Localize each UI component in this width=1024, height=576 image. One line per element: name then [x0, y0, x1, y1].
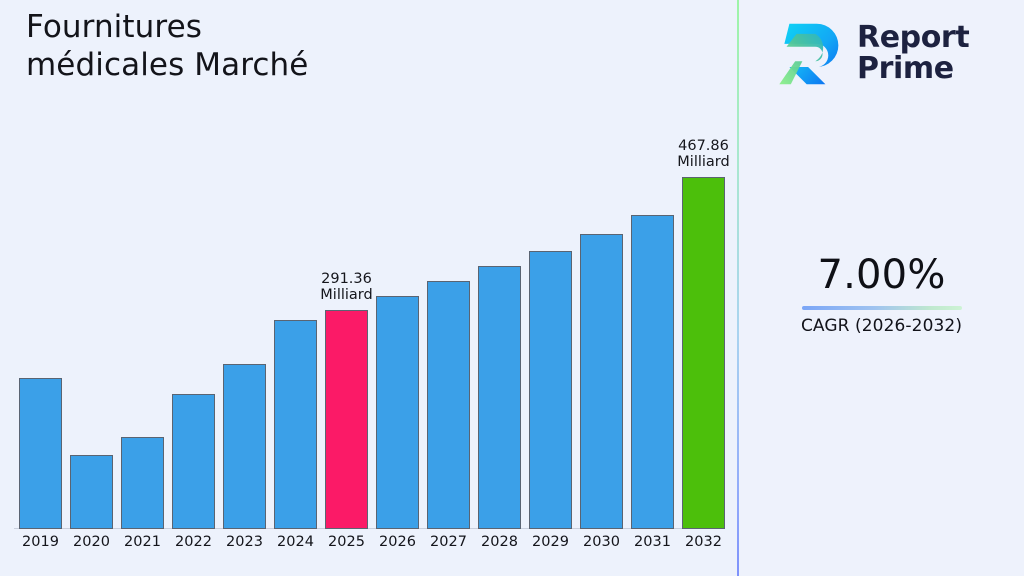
x-tick-2025: 2025: [325, 534, 368, 550]
x-tick-2019: 2019: [19, 534, 62, 550]
bar-rect-2019[interactable]: [19, 378, 62, 529]
bar-2027[interactable]: [427, 281, 470, 529]
bar-rect-2027[interactable]: [427, 281, 470, 529]
bar-rect-2024[interactable]: [274, 320, 317, 529]
bar-rect-2026[interactable]: [376, 296, 419, 529]
bar-rect-2029[interactable]: [529, 251, 572, 529]
bar-2030[interactable]: [580, 234, 623, 529]
x-tick-2026: 2026: [376, 534, 419, 550]
bar-2022[interactable]: [172, 394, 215, 529]
cagr-value: 7.00%: [739, 252, 1024, 298]
bar-rect-2023[interactable]: [223, 364, 266, 529]
bar-rect-2030[interactable]: [580, 234, 623, 529]
bar-value-label-2025: 291.36 Milliard: [320, 271, 372, 304]
bar-2021[interactable]: [121, 437, 164, 529]
x-tick-2023: 2023: [223, 534, 266, 550]
cagr-caption: CAGR (2026-2032): [739, 316, 1024, 336]
x-tick-2022: 2022: [172, 534, 215, 550]
x-tick-2021: 2021: [121, 534, 164, 550]
report-prime-r-mark: [775, 18, 847, 90]
bar-value-label-2032: 467.86 Milliard: [677, 138, 729, 171]
bar-rect-2025[interactable]: [325, 310, 368, 529]
x-tick-2032: 2032: [682, 534, 725, 550]
cagr-divider-rule: [802, 306, 962, 310]
bar-rect-2021[interactable]: [121, 437, 164, 529]
x-tick-2029: 2029: [529, 534, 572, 550]
x-tick-2031: 2031: [631, 534, 674, 550]
x-tick-2030: 2030: [580, 534, 623, 550]
x-tick-2020: 2020: [70, 534, 113, 550]
x-tick-2027: 2027: [427, 534, 470, 550]
bar-2028[interactable]: [478, 266, 521, 529]
bar-2032[interactable]: 467.86 Milliard: [682, 177, 725, 529]
bar-2026[interactable]: [376, 296, 419, 529]
bar-2025[interactable]: 291.36 Milliard: [325, 310, 368, 529]
bar-rect-2032[interactable]: [682, 177, 725, 529]
bar-2019[interactable]: [19, 378, 62, 529]
report-prime-logo: Report Prime: [775, 12, 1003, 96]
bar-rect-2031[interactable]: [631, 215, 674, 529]
bar-chart-plot: 201920202021202220232024291.36 Milliard2…: [0, 0, 737, 576]
chart-infographic: Fournitures médicales Marché 20192020202…: [0, 0, 1024, 576]
x-tick-2028: 2028: [478, 534, 521, 550]
brand-wordmark: Report Prime: [857, 23, 969, 84]
bar-2020[interactable]: [70, 455, 113, 529]
brand-panel: Report Prime 7.00% CAGR (2026-2032): [739, 0, 1024, 576]
bar-2024[interactable]: [274, 320, 317, 529]
chart-panel: Fournitures médicales Marché 20192020202…: [0, 0, 737, 576]
bar-rect-2020[interactable]: [70, 455, 113, 529]
cagr-block: 7.00% CAGR (2026-2032): [739, 252, 1024, 336]
bar-2031[interactable]: [631, 215, 674, 529]
bar-rect-2028[interactable]: [478, 266, 521, 529]
bar-2023[interactable]: [223, 364, 266, 529]
x-tick-2024: 2024: [274, 534, 317, 550]
bar-2029[interactable]: [529, 251, 572, 529]
bar-rect-2022[interactable]: [172, 394, 215, 529]
